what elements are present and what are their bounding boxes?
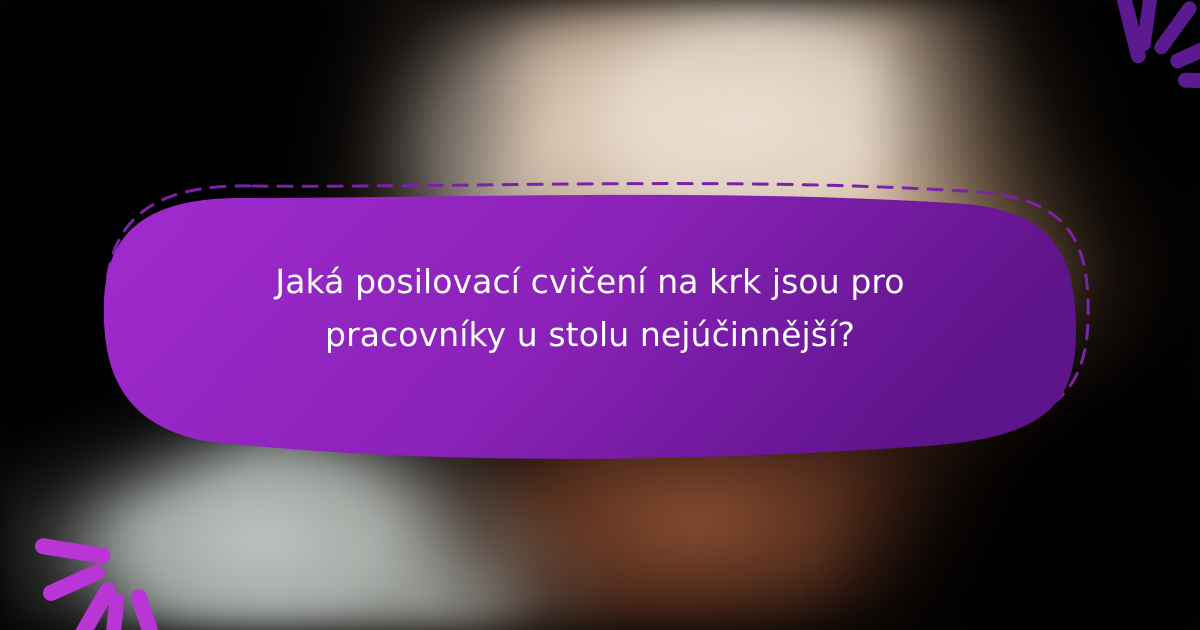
callout-headline: Jaká posilovací cvičení na krk jsou pro … — [150, 255, 1030, 361]
sparkle-dash-icon — [1178, 72, 1200, 89]
social-card-canvas: Jaká posilovací cvičení na krk jsou pro … — [0, 0, 1200, 630]
